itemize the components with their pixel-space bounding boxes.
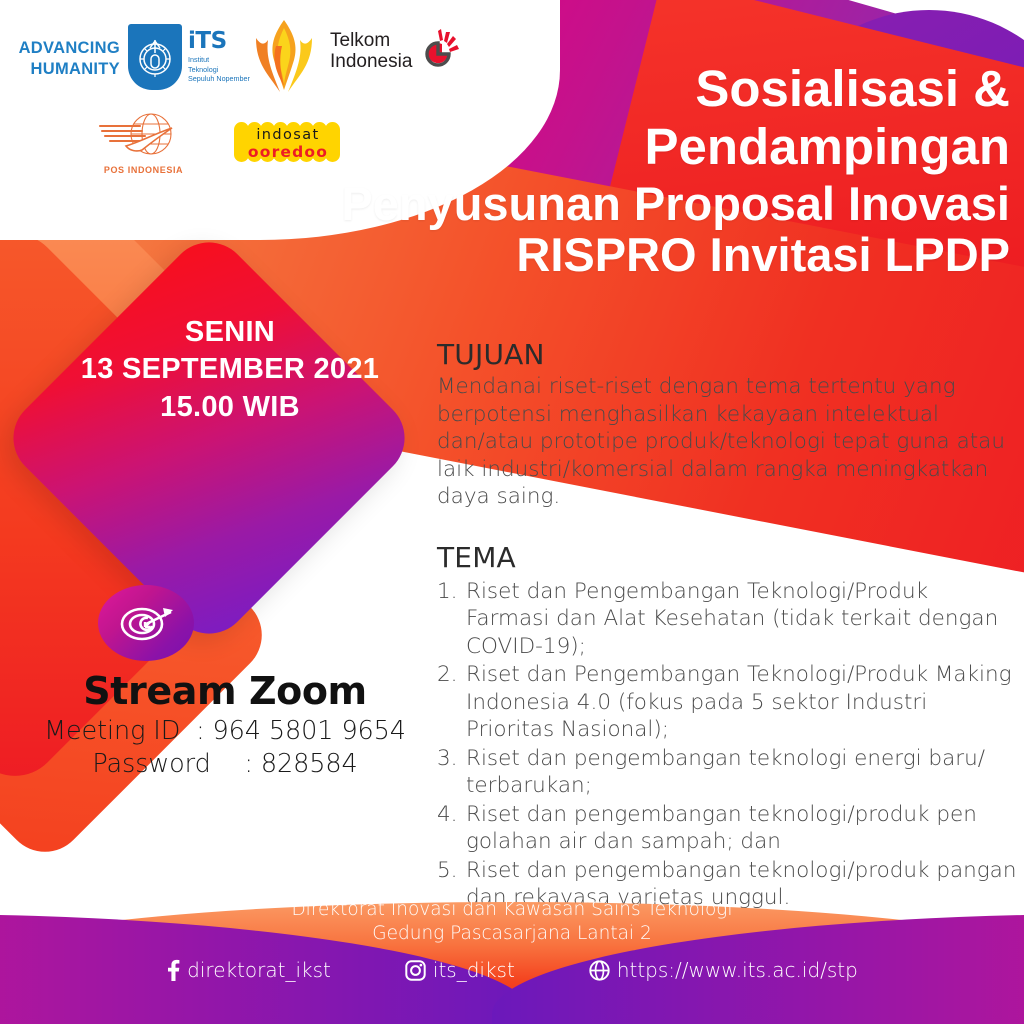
- poster-canvas: ADVANCING HUMANITY: [0, 0, 1024, 1024]
- its-acronym: iTS: [188, 30, 250, 53]
- list-item: 3. Riset dan pengembangan teknologi ener…: [437, 745, 1017, 800]
- tema-item-number: 4.: [437, 801, 459, 856]
- footer-org-line1: Direktorat Inovasi dan Kawasan Sains Tek…: [0, 898, 1024, 922]
- meeting-id-label: Meeting ID: [44, 715, 196, 748]
- title-line-1: Sosialisasi &: [190, 62, 1010, 116]
- tema-item-number: 2.: [437, 661, 459, 744]
- globe-icon: [589, 960, 610, 981]
- advancing-humanity-line1: ADVANCING: [12, 38, 120, 59]
- advancing-humanity-line2: HUMANITY: [12, 59, 120, 80]
- date-time: 15.00 WIB: [160, 389, 300, 426]
- tema-item-number: 1.: [437, 578, 459, 661]
- website-url[interactable]: https://www.its.ac.id/stp: [617, 958, 858, 982]
- tema-section: TEMA 1. Riset dan Pengembangan Teknologi…: [437, 541, 1017, 912]
- stream-zoom-title: Stream Zoom: [40, 669, 410, 713]
- social-instagram[interactable]: its_dikst: [405, 958, 515, 982]
- date-badge-text: SENIN 13 SEPTEMBER 2021 15.00 WIB: [40, 305, 420, 435]
- pos-indonesia-logo: POS INDONESIA: [96, 112, 191, 175]
- its-shield-icon: [128, 24, 182, 90]
- meeting-id-row: Meeting ID: 964 5801 9654: [40, 715, 410, 748]
- tujuan-heading: TUJUAN: [437, 338, 1017, 371]
- list-item: 1. Riset dan Pengembangan Teknologi/Prod…: [437, 578, 1017, 661]
- tema-item-number: 3.: [437, 745, 459, 800]
- footer-social-row: direktorat_ikst its_dikst https://www.it…: [0, 958, 1024, 982]
- content-column: TUJUAN Mendanai riset-riset dengan tema …: [437, 338, 1017, 913]
- pos-indonesia-label: POS INDONESIA: [96, 165, 191, 175]
- footer-org-text: Direktorat Inovasi dan Kawasan Sains Tek…: [0, 898, 1024, 947]
- advancing-humanity-logo: ADVANCING HUMANITY: [12, 38, 120, 79]
- facebook-handle[interactable]: direktorat_ikst: [187, 958, 331, 982]
- password-value: : 828584: [244, 749, 357, 779]
- footer-org-line2: Gedung Pascasarjana Lantai 2: [0, 922, 1024, 946]
- tema-item-text: Riset dan pengembangan teknologi energi …: [466, 745, 1017, 800]
- tujuan-body: Mendanai riset-riset dengan tema tertent…: [437, 373, 1017, 511]
- telkom-line1: Telkom: [330, 30, 412, 51]
- title-line-4: RISPRO Invitasi LPDP: [190, 230, 1010, 279]
- poster-title: Sosialisasi & Pendampingan Penyusunan Pr…: [190, 62, 1010, 280]
- password-label: Password: [92, 748, 244, 781]
- list-item: 4. Riset dan pengembangan teknologi/prod…: [437, 801, 1017, 856]
- tema-heading: TEMA: [437, 541, 1017, 574]
- title-line-3: Penyusunan Proposal Inovasi: [190, 179, 1010, 228]
- social-website[interactable]: https://www.its.ac.id/stp: [589, 958, 858, 982]
- tema-item-text: Riset dan Pengembangan Teknologi/Produk …: [466, 578, 1017, 661]
- social-facebook[interactable]: direktorat_ikst: [166, 958, 331, 982]
- password-row: Password: 828584: [40, 748, 410, 781]
- footer-bar: Direktorat Inovasi dan Kawasan Sains Tek…: [0, 884, 1024, 1024]
- tema-list: 1. Riset dan Pengembangan Teknologi/Prod…: [437, 578, 1017, 912]
- tujuan-section: TUJUAN Mendanai riset-riset dengan tema …: [437, 338, 1017, 511]
- instagram-icon: [405, 960, 426, 981]
- title-line-2: Pendampingan: [190, 120, 1010, 174]
- pos-globe-bird-icon: [96, 112, 191, 159]
- facebook-icon: [166, 959, 180, 981]
- target-arrow-icon: [98, 585, 194, 661]
- date-day: SENIN: [185, 314, 275, 351]
- meeting-id-value: : 964 5801 9654: [196, 716, 406, 746]
- tema-item-text: Riset dan Pengembangan Teknologi/Produk …: [466, 661, 1017, 744]
- tema-item-text: Riset dan pengembangan teknologi/produk …: [466, 801, 1017, 856]
- date-date: 13 SEPTEMBER 2021: [81, 351, 379, 388]
- list-item: 2. Riset dan Pengembangan Teknologi/Prod…: [437, 661, 1017, 744]
- instagram-handle[interactable]: its_dikst: [433, 958, 515, 982]
- stream-zoom-block: Stream Zoom Meeting ID: 964 5801 9654 Pa…: [40, 585, 410, 781]
